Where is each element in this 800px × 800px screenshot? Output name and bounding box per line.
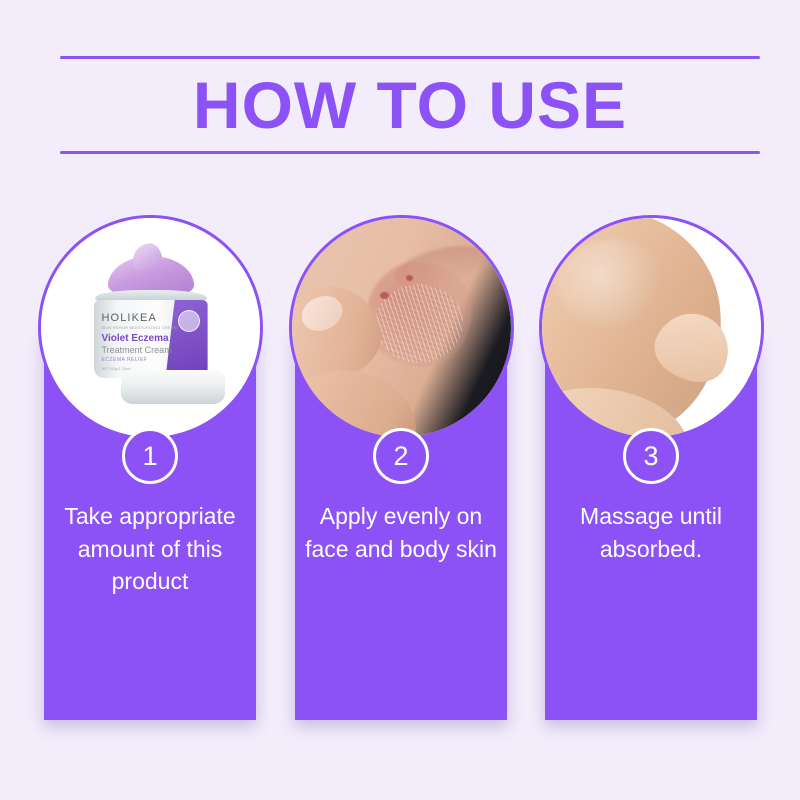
step-caption-3: Massage until absorbed. xyxy=(549,500,753,565)
page-title: HOW TO USE xyxy=(60,59,760,151)
steps-row: HOLIKEA SKIN REPAIR MOISTURIZING CREAM V… xyxy=(0,210,800,750)
product-claim: ECZEMA RELIEF xyxy=(102,357,148,363)
step-card-3: 3 Massage until absorbed. xyxy=(545,210,757,750)
step-caption-2: Apply evenly on face and body skin xyxy=(299,500,503,565)
product-name-line1: Violet Eczema xyxy=(102,333,169,345)
skin-highlight xyxy=(555,240,669,328)
product-tagline: SKIN REPAIR MOISTURIZING CREAM xyxy=(102,326,178,330)
title-rule-bottom xyxy=(60,151,760,154)
product-name-line2: Treatment Cream xyxy=(102,345,172,355)
page-header: HOW TO USE xyxy=(60,56,760,154)
clear-skin-photo xyxy=(539,215,764,440)
product-brand: HOLIKEA xyxy=(102,312,157,324)
jar-body: HOLIKEA SKIN REPAIR MOISTURIZING CREAM V… xyxy=(94,300,208,378)
jar-lid xyxy=(121,370,225,404)
jar-label-panel xyxy=(166,300,208,378)
eczema-spot xyxy=(406,275,413,281)
step-number-badge-1: 1 xyxy=(122,428,178,484)
eczema-skin-photo xyxy=(289,215,514,440)
product-jar-photo: HOLIKEA SKIN REPAIR MOISTURIZING CREAM V… xyxy=(38,215,263,440)
step-number-badge-3: 3 xyxy=(623,428,679,484)
step-card-2: 2 Apply evenly on face and body skin xyxy=(295,210,507,750)
step-number-badge-2: 2 xyxy=(373,428,429,484)
step-card-1: HOLIKEA SKIN REPAIR MOISTURIZING CREAM V… xyxy=(44,210,256,750)
step-caption-1: Take appropriate amount of this product xyxy=(48,500,252,598)
jar-panel-emblem-icon xyxy=(178,310,200,332)
